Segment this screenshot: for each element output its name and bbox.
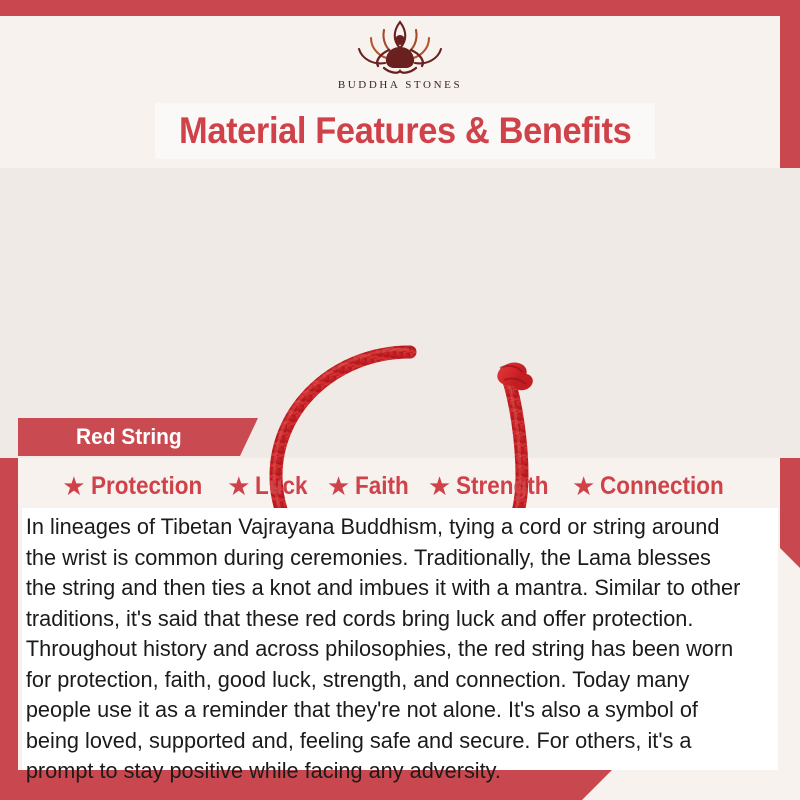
material-label-banner: Red String — [18, 418, 258, 456]
frame-bar-top — [0, 0, 800, 16]
infographic-page: BUDDHA STONES Material Features & Benefi… — [0, 0, 800, 800]
description-panel: In lineages of Tibetan Vajrayana Buddhis… — [22, 508, 778, 770]
product-image-band — [0, 168, 800, 458]
benefit-label: Faith — [355, 472, 409, 501]
benefit-label: Strength — [456, 472, 549, 501]
description-text: In lineages of Tibetan Vajrayana Buddhis… — [22, 508, 752, 787]
benefit-label: Protection — [91, 472, 202, 501]
star-icon: ★ — [428, 473, 451, 499]
star-icon: ★ — [227, 473, 250, 499]
brand-name: BUDDHA STONES — [338, 79, 462, 91]
brand-logo: BUDDHA STONES — [0, 16, 800, 102]
benefit-item: ★ Connection — [572, 472, 738, 501]
benefit-item: ★ Protection — [62, 472, 214, 501]
star-icon: ★ — [62, 473, 85, 499]
star-icon: ★ — [572, 473, 595, 499]
benefit-item: ★ Faith — [327, 472, 415, 501]
benefit-label: Connection — [600, 472, 724, 501]
star-icon: ★ — [327, 473, 350, 499]
page-title: Material Features & Benefits — [179, 110, 631, 152]
material-label-text: Red String — [76, 424, 182, 450]
lotus-meditation-icon — [340, 16, 460, 78]
benefits-list: ★ Protection ★ Luck ★ Faith ★ Strength ★… — [18, 466, 782, 506]
benefit-item: ★ Luck — [227, 472, 314, 501]
benefit-label: Luck — [255, 472, 308, 501]
title-banner: Material Features & Benefits — [155, 103, 655, 159]
benefit-item: ★ Strength — [428, 472, 559, 501]
